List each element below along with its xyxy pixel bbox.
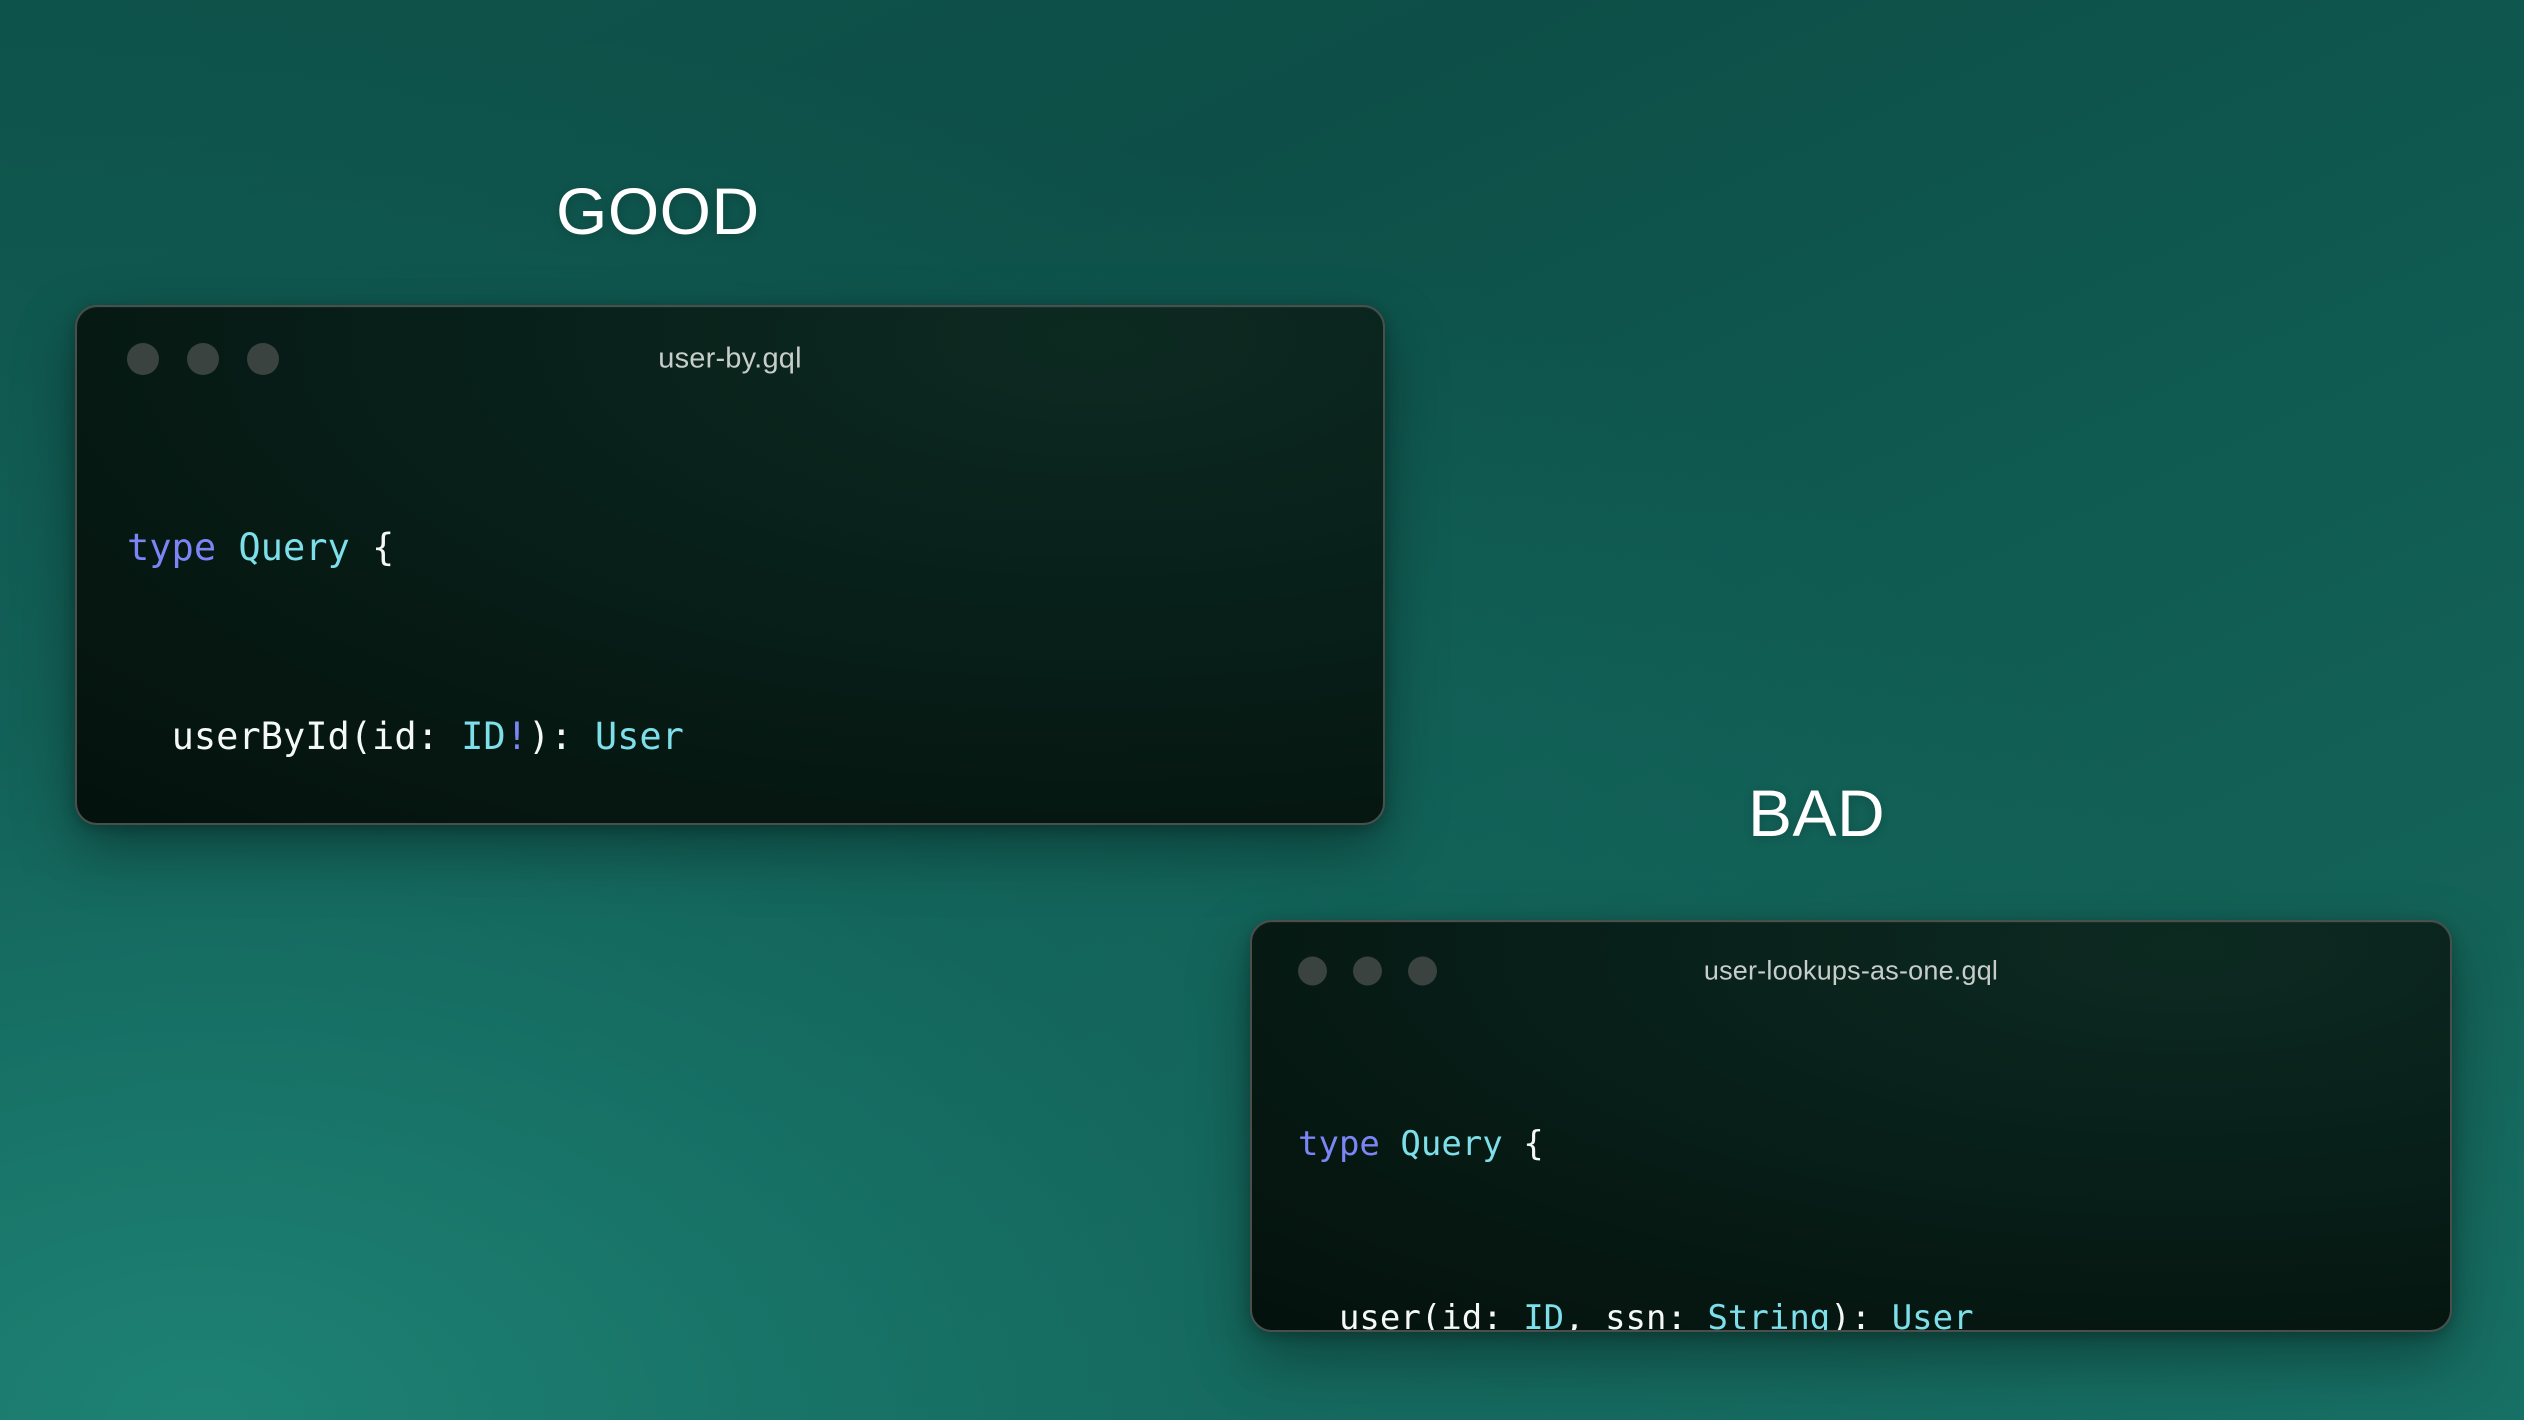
token-close-paren: ):: [1830, 1298, 1891, 1332]
code-line: type Query {: [77, 524, 1383, 571]
slide-canvas: GOOD user-by.gql type Query { userById(i…: [0, 0, 2524, 1420]
token-brace: {: [350, 526, 395, 569]
minimize-dot-icon[interactable]: [1353, 957, 1382, 986]
code-content-bad: type Query { user(id: ID, ssn: String): …: [1252, 1020, 2450, 1332]
token-close-paren: ):: [528, 715, 595, 758]
good-example-label: GOOD: [556, 178, 760, 244]
token-keyword: type: [1298, 1124, 1380, 1164]
token-field: userById(id:: [172, 715, 462, 758]
code-line: type Query {: [1252, 1123, 2450, 1167]
token-arg-separator: , ssn:: [1564, 1298, 1707, 1332]
token-brace: {: [1503, 1124, 1544, 1164]
window-titlebar-bad: user-lookups-as-one.gql: [1252, 922, 2450, 1020]
token-non-null: !: [506, 715, 528, 758]
code-window-good: user-by.gql type Query { userById(id: ID…: [75, 305, 1385, 825]
traffic-lights-good: [127, 343, 279, 375]
close-dot-icon[interactable]: [127, 343, 159, 375]
token-type: Query: [238, 526, 349, 569]
token-type: Query: [1400, 1124, 1502, 1164]
token-type: String: [1707, 1298, 1830, 1332]
token-type: ID: [1523, 1298, 1564, 1332]
minimize-dot-icon[interactable]: [187, 343, 219, 375]
token-space: [216, 526, 238, 569]
token-indent: [1298, 1298, 1339, 1332]
code-line: userById(id: ID!): User: [77, 713, 1383, 760]
code-window-bad: user-lookups-as-one.gql type Query { use…: [1250, 920, 2452, 1332]
bad-example-label: BAD: [1748, 780, 1885, 846]
close-dot-icon[interactable]: [1298, 957, 1327, 986]
token-type: ID: [461, 715, 506, 758]
token-indent: [127, 715, 172, 758]
token-keyword: type: [127, 526, 216, 569]
traffic-lights-bad: [1298, 957, 1437, 986]
maximize-dot-icon[interactable]: [247, 343, 279, 375]
token-return-type: User: [1892, 1298, 1974, 1332]
token-return-type: User: [595, 715, 684, 758]
token-field: user(id:: [1339, 1298, 1523, 1332]
token-space: [1380, 1124, 1400, 1164]
code-content-good: type Query { userById(id: ID!): User use…: [77, 411, 1383, 825]
window-titlebar-good: user-by.gql: [77, 307, 1383, 411]
code-line: user(id: ID, ssn: String): User: [1252, 1297, 2450, 1332]
maximize-dot-icon[interactable]: [1408, 957, 1437, 986]
